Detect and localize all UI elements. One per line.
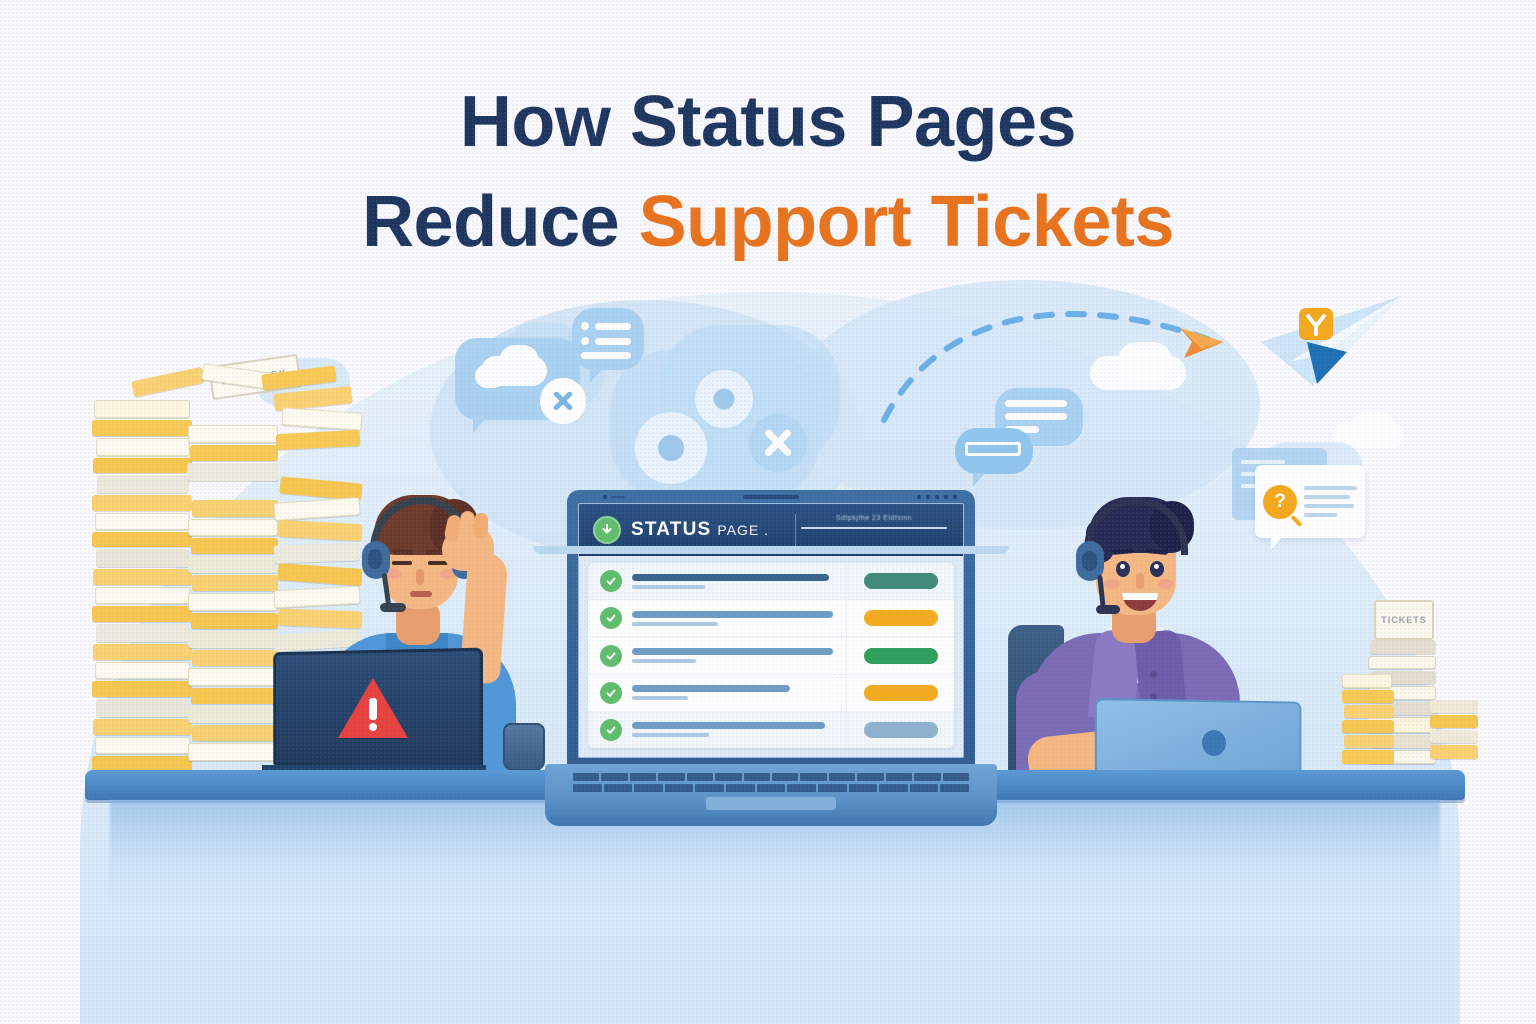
status-page-meta: Sdfpkjfhe 23 Eldfsmn [801, 515, 947, 529]
status-page-body [579, 556, 963, 757]
agent-laptop [1070, 700, 1310, 778]
nose [1136, 573, 1144, 589]
bezel-dots [917, 495, 957, 499]
laptop-screen: STATUS PAGE . Sdfpkjfhe 23 Eldfsmn [578, 503, 964, 758]
illustration-scene: FEEDBACK [0, 270, 1536, 920]
webcam-icon [603, 495, 607, 499]
title-line-1: How Status Pages [0, 72, 1536, 172]
headset-earcup-inner [368, 549, 382, 569]
headset-mic [1096, 605, 1120, 614]
cheek [1158, 579, 1174, 589]
status-badge[interactable] [864, 573, 938, 589]
title-line-2-primary: Reduce [362, 182, 639, 262]
status-badge[interactable] [864, 648, 938, 664]
row-labels [632, 574, 846, 589]
status-page-brand: STATUS PAGE . [631, 519, 769, 541]
laptop-lid [1095, 698, 1302, 780]
table-row[interactable] [588, 675, 954, 712]
status-cell [846, 637, 954, 673]
laptop-lid: STATUS PAGE . Sdfpkjfhe 23 Eldfsmn [567, 490, 975, 768]
cheek [1104, 579, 1120, 589]
shirt-button [1150, 671, 1157, 678]
status-page-laptop: STATUS PAGE . Sdfpkjfhe 23 Eldfsmn [545, 490, 997, 830]
table-row[interactable] [588, 600, 954, 637]
close-x-icon [540, 378, 586, 424]
keyboard-row[interactable] [573, 773, 969, 781]
warning-exclamation [369, 698, 377, 720]
eye-closed [392, 561, 412, 565]
check-icon [600, 719, 622, 741]
status-badge[interactable] [864, 685, 938, 701]
check-icon [600, 570, 622, 592]
status-cell [846, 675, 954, 711]
dashed-arc-path [880, 280, 1300, 430]
headset-mic [380, 603, 406, 612]
title-line-2: Reduce Support Tickets [0, 172, 1536, 272]
check-icon [600, 645, 622, 667]
keyboard-row[interactable] [573, 784, 969, 792]
laptop-logo [1202, 730, 1226, 756]
finger [474, 513, 488, 539]
status-cell [846, 563, 954, 599]
meta-rule [801, 527, 947, 529]
row-labels [632, 611, 846, 626]
download-circle-icon [593, 516, 621, 544]
laptop-front-edge [533, 546, 1009, 554]
table-row[interactable] [588, 637, 954, 674]
meta-text: Sdfpkjfhe 23 Eldfsmn [801, 515, 947, 522]
eye-highlight [1120, 564, 1125, 569]
check-icon [600, 682, 622, 704]
status-cell [846, 600, 954, 636]
bezel-speaker [743, 495, 799, 499]
row-labels [632, 685, 846, 700]
status-cell [846, 712, 954, 748]
warning-exclamation-dot [369, 723, 377, 731]
header-divider [795, 514, 796, 546]
cloud-icon [1352, 412, 1394, 440]
laptop-keyboard-base[interactable] [545, 764, 997, 826]
status-badge[interactable] [864, 722, 938, 738]
headset-earcup-inner [1082, 551, 1097, 571]
alert-laptop [268, 650, 480, 775]
nose [416, 569, 424, 585]
faq-lines [1304, 486, 1357, 517]
page-title: How Status Pages Reduce Support Tickets [0, 72, 1536, 272]
table-row[interactable] [588, 563, 954, 600]
table-row[interactable] [588, 712, 954, 748]
eye-highlight [1154, 564, 1159, 569]
mouth [410, 591, 432, 597]
brand-suffix: PAGE . [717, 522, 769, 538]
row-labels [632, 648, 846, 663]
tickets-tag: TICKETS [1374, 600, 1434, 640]
status-badge[interactable] [864, 610, 938, 626]
trackpad[interactable] [706, 797, 836, 810]
gears-icon [605, 352, 815, 502]
tickets-stack: TICKETS [1342, 600, 1492, 780]
row-labels [632, 722, 846, 737]
bezel-detail [611, 496, 625, 498]
service-status-table [588, 563, 954, 748]
chat-bubble-icon [955, 428, 1033, 474]
check-icon [600, 607, 622, 629]
paper-plane-icon [1255, 290, 1405, 400]
title-line-2-accent: Support Tickets [639, 182, 1174, 262]
brand-primary: STATUS [631, 519, 711, 541]
desk-device [503, 723, 545, 771]
